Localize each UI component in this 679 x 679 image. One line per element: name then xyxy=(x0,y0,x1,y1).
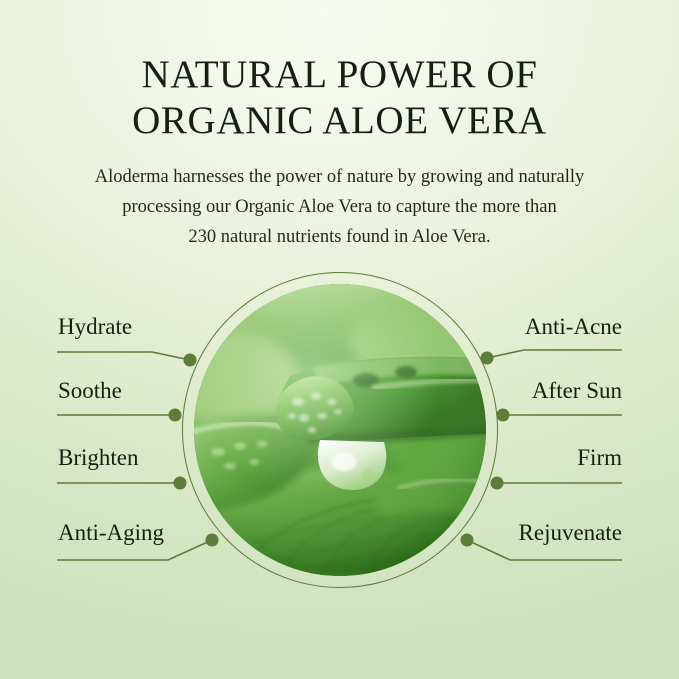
aloe-vera-infographic: NATURAL POWER OF ORGANIC ALOE VERA Alode… xyxy=(0,0,679,679)
benefit-label-rejuvenate: Rejuvenate xyxy=(519,519,622,546)
aloe-vera-photo xyxy=(194,284,486,576)
benefit-label-soothe: Soothe xyxy=(58,377,122,404)
page-title-line-2: ORGANIC ALOE VERA xyxy=(0,98,679,144)
benefit-label-brighten: Brighten xyxy=(58,444,139,471)
page-subtitle: Aloderma harnesses the power of nature b… xyxy=(0,144,679,252)
page-subtitle-line-2: processing our Organic Aloe Vera to capt… xyxy=(0,192,679,222)
benefit-label-anti-acne: Anti-Acne xyxy=(525,313,622,340)
page-subtitle-line-3: 230 natural nutrients found in Aloe Vera… xyxy=(0,222,679,252)
dot-hydrate xyxy=(184,354,197,367)
dot-brighten xyxy=(174,477,187,490)
dot-anti-aging xyxy=(206,534,219,547)
benefit-label-after-sun: After Sun xyxy=(532,377,622,404)
dot-rejuvenate xyxy=(461,534,474,547)
dot-after-sun xyxy=(497,409,510,422)
dot-firm xyxy=(491,477,504,490)
dot-soothe xyxy=(169,409,182,422)
connector-anti-acne xyxy=(487,350,622,358)
benefit-label-anti-aging: Anti-Aging xyxy=(58,519,164,546)
aloe-vera-photo-art xyxy=(194,284,486,576)
header-block: NATURAL POWER OF ORGANIC ALOE VERA Alode… xyxy=(0,0,679,252)
page-subtitle-line-1: Aloderma harnesses the power of nature b… xyxy=(0,162,679,192)
page-title-line-1: NATURAL POWER OF xyxy=(0,52,679,98)
connector-hydrate xyxy=(57,352,190,360)
benefit-label-hydrate: Hydrate xyxy=(58,313,132,340)
page-title: NATURAL POWER OF ORGANIC ALOE VERA xyxy=(0,0,679,144)
benefit-label-firm: Firm xyxy=(577,444,622,471)
